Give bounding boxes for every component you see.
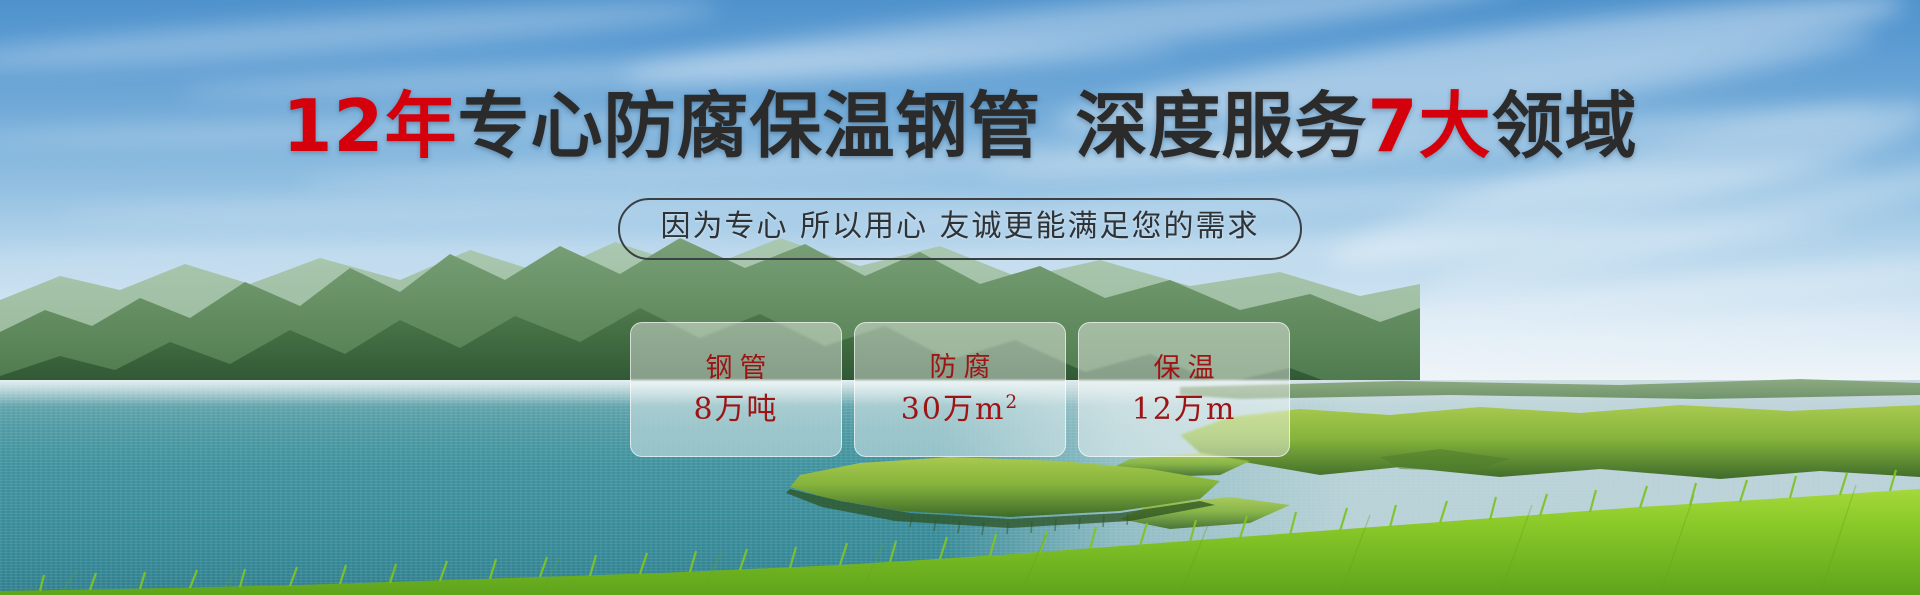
- stat-card-value-superscript: 2: [1005, 392, 1019, 413]
- stat-card-group: 钢管 8万吨 防腐 30万m2 保温 12万m: [0, 322, 1920, 457]
- headline-service-dark: 深度服务: [1076, 84, 1368, 168]
- headline-main-dark: 专心防腐保温钢管: [458, 84, 1042, 168]
- stat-card-insulation: 保温 12万m: [1078, 322, 1290, 457]
- stat-card-value-text: 12万m: [1132, 392, 1237, 427]
- banner-subtitle-pill: 因为专心 所以用心 友诚更能满足您的需求: [618, 198, 1301, 260]
- banner-content-overlay: 12年专心防腐保温钢管深度服务7大领域 因为专心 所以用心 友诚更能满足您的需求…: [0, 0, 1920, 595]
- headline-seven-red: 7大: [1368, 84, 1492, 168]
- headline-years-red: 12年: [282, 84, 457, 168]
- stat-card-value: 12万m: [1132, 395, 1237, 425]
- stat-card-anticorrosion: 防腐 30万m2: [854, 322, 1066, 457]
- banner-subtitle-wrapper: 因为专心 所以用心 友诚更能满足您的需求: [0, 198, 1920, 260]
- banner-headline: 12年专心防腐保温钢管深度服务7大领域: [0, 90, 1920, 162]
- headline-fields-dark: 领域: [1492, 84, 1638, 168]
- stat-card-value-text: 8万吨: [693, 392, 778, 427]
- stat-card-title: 钢管: [699, 355, 774, 382]
- stat-card-title: 防腐: [923, 354, 998, 381]
- stat-card-title: 保温: [1147, 355, 1222, 382]
- stat-card-value: 30万m2: [901, 394, 1019, 425]
- stat-card-value: 8万吨: [693, 395, 778, 425]
- stat-card-value-text: 30万m: [901, 392, 1006, 427]
- promo-banner: 12年专心防腐保温钢管深度服务7大领域 因为专心 所以用心 友诚更能满足您的需求…: [0, 0, 1920, 595]
- stat-card-steel-pipe: 钢管 8万吨: [630, 322, 842, 457]
